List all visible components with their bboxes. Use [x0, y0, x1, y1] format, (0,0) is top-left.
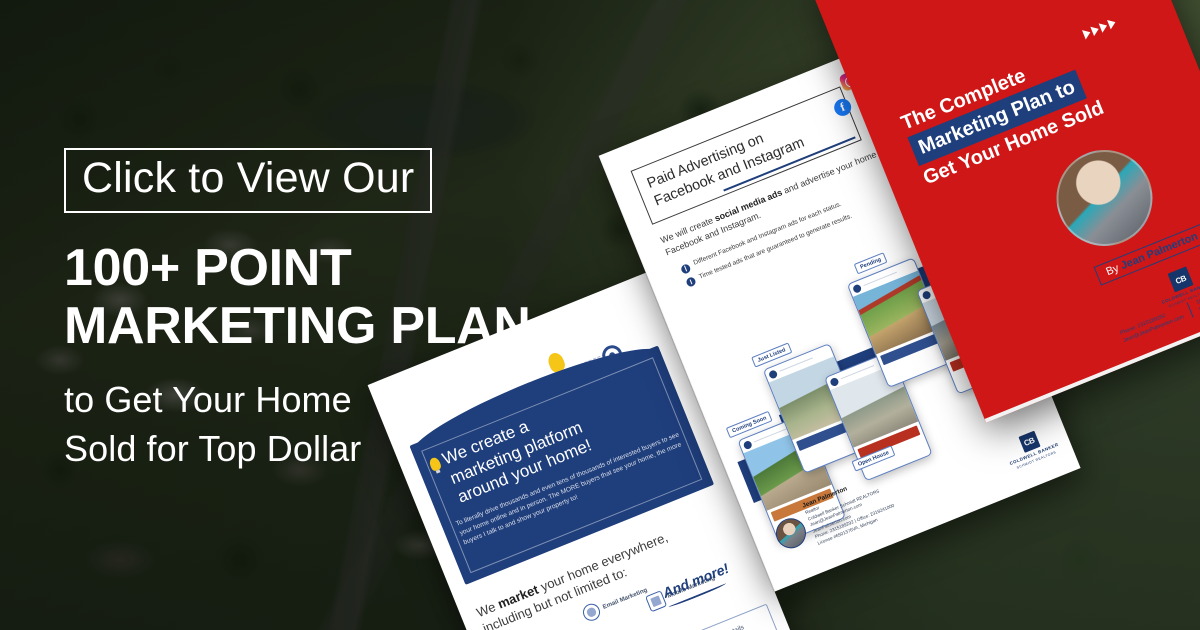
- info-bullet-icon: [680, 263, 692, 275]
- headline-line-1: 100+ POINT: [64, 239, 534, 297]
- avatar: [852, 283, 862, 293]
- cta-label: Click to View Our: [82, 157, 414, 200]
- promo-banner[interactable]: Click to View Our 100+ POINT MARKETING P…: [0, 0, 1200, 630]
- contact-left: Phone: 2315189292 Jean@JeanPalmerton.com: [1119, 306, 1185, 345]
- hero-headline-block: Click to View Our 100+ POINT MARKETING P…: [64, 148, 534, 472]
- headline-line-2: MARKETING PLAN: [64, 297, 534, 355]
- channel-label: Social Media Marketing: [557, 622, 611, 630]
- subheadline-line-1: to Get Your Home: [64, 377, 534, 423]
- avatar: [921, 289, 931, 299]
- agent-avatar: [771, 513, 810, 552]
- coldwell-banker-logo-right: COLDWELL BANKER SCHMIDT REALTORS: [1002, 424, 1062, 471]
- click-to-view-cta[interactable]: Click to View Our: [64, 148, 432, 213]
- avatar: [768, 369, 778, 379]
- channel-item[interactable]: Social Media Marketing: [537, 622, 611, 630]
- avatar: [742, 439, 752, 449]
- avatar: [829, 376, 839, 386]
- contact-divider: [1187, 302, 1194, 317]
- subheadline-line-2: Sold for Top Dollar: [64, 426, 534, 472]
- clock-bullet-icon: [685, 276, 697, 288]
- byline-prefix: By: [1104, 262, 1120, 278]
- envelope-icon: [580, 601, 602, 623]
- cover-agent-avatar: [1042, 135, 1167, 260]
